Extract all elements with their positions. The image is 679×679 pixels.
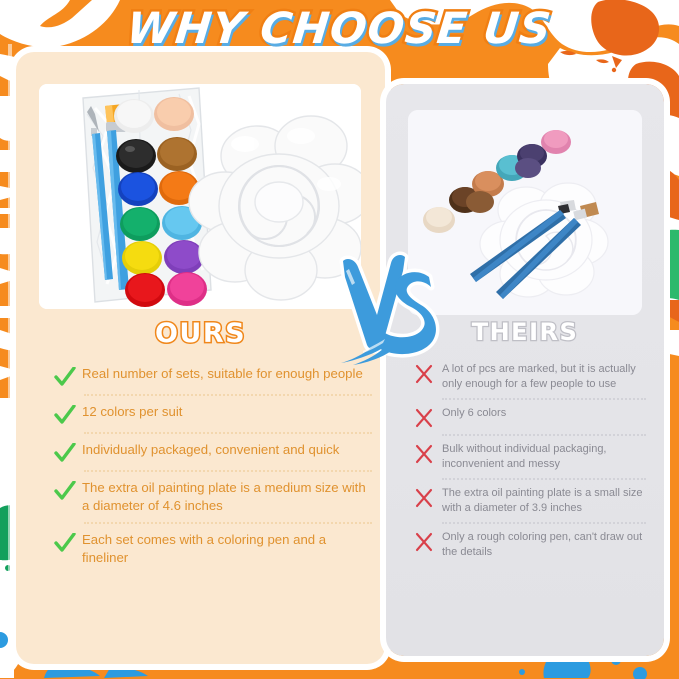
- list-item-text: Bulk without individual packaging, incon…: [442, 442, 646, 472]
- list-item: 12 colors per suit: [54, 403, 372, 425]
- ours-heading: OURS: [16, 318, 385, 349]
- check-icon: [54, 403, 82, 425]
- list-item-text: Individually packaged, convenient and qu…: [82, 441, 372, 459]
- list-divider: [84, 522, 372, 524]
- list-item: Real number of sets, suitable for enough…: [54, 365, 372, 387]
- paint-pot: [167, 272, 207, 306]
- cross-icon: [414, 486, 442, 508]
- vs-brush-icon: [333, 243, 441, 367]
- cross-icon: [414, 442, 442, 464]
- list-item-text: Each set comes with a coloring pen and a…: [82, 531, 372, 567]
- theirs-product-illustration: [408, 110, 642, 315]
- theirs-card: THEIRS A lot of pcs are marked, but it i…: [386, 84, 664, 656]
- list-item-text: The extra oil painting plate is a medium…: [82, 479, 372, 515]
- list-item-text: Real number of sets, suitable for enough…: [82, 365, 372, 383]
- list-item-text: The extra oil painting plate is a small …: [442, 486, 646, 516]
- list-item: The extra oil painting plate is a small …: [414, 486, 646, 516]
- list-item-text: Only a rough coloring pen, can't draw ou…: [442, 530, 646, 560]
- ours-product-image: [39, 84, 361, 309]
- list-item: A lot of pcs are marked, but it is actua…: [414, 362, 646, 392]
- check-icon: [54, 531, 82, 553]
- ours-product-illustration: [39, 84, 361, 309]
- ours-card: OURS Real number of sets, suitable for e…: [16, 52, 385, 664]
- check-icon: [54, 441, 82, 463]
- list-item-text: Only 6 colors: [442, 406, 646, 421]
- cross-icon: [414, 530, 442, 552]
- paint-pot: [541, 130, 571, 154]
- list-item-text: 12 colors per suit: [82, 403, 372, 421]
- list-divider: [442, 522, 646, 524]
- list-item: Each set comes with a coloring pen and a…: [54, 531, 372, 567]
- list-item-text: A lot of pcs are marked, but it is actua…: [442, 362, 646, 392]
- paint-pot: [157, 137, 197, 171]
- theirs-feature-list: A lot of pcs are marked, but it is actua…: [414, 362, 646, 560]
- paint-pot: [118, 172, 158, 206]
- paint-pot: [114, 99, 154, 133]
- list-divider: [442, 478, 646, 480]
- list-item: Only 6 colors: [414, 406, 646, 428]
- list-divider: [84, 394, 372, 396]
- list-divider: [442, 398, 646, 400]
- list-item: Individually packaged, convenient and qu…: [54, 441, 372, 463]
- list-divider: [84, 432, 372, 434]
- list-item: Bulk without individual packaging, incon…: [414, 442, 646, 472]
- list-divider: [84, 470, 372, 472]
- cross-icon: [414, 406, 442, 428]
- theirs-product-image: [408, 110, 642, 315]
- paint-pot: [120, 207, 160, 241]
- check-icon: [54, 479, 82, 501]
- paint-pot: [122, 241, 162, 275]
- check-icon: [54, 365, 82, 387]
- list-item: Only a rough coloring pen, can't draw ou…: [414, 530, 646, 560]
- paint-pot: [423, 207, 455, 233]
- list-item: The extra oil painting plate is a medium…: [54, 479, 372, 515]
- paint-pot: [116, 139, 156, 173]
- paint-pot: [154, 97, 194, 131]
- list-divider: [442, 434, 646, 436]
- infographic-root: WHY CHOOSE US: [0, 0, 679, 679]
- paint-pot: [125, 273, 165, 307]
- vs-divider: [333, 243, 441, 367]
- paint-pot: [164, 240, 204, 274]
- ours-feature-list: Real number of sets, suitable for enough…: [54, 365, 372, 567]
